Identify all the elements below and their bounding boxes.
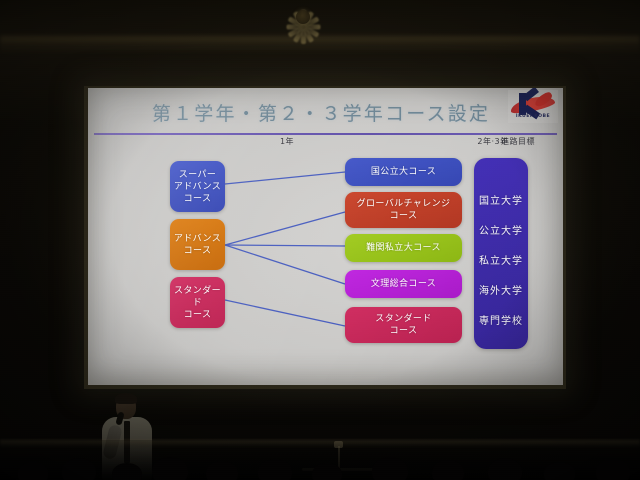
- course-box-liberal-science[interactable]: 文理総合コース: [345, 270, 462, 298]
- goal-panel[interactable]: 国立大学 公立大学 私立大学 海外大学 専門学校: [474, 158, 528, 349]
- title-divider: [94, 133, 557, 135]
- course-box-advance[interactable]: アドバンス コース: [170, 219, 225, 270]
- goal-item: 専門学校: [474, 312, 528, 327]
- course-label-line: スーパー: [174, 169, 221, 181]
- course-box-standard-year23[interactable]: スタンダード コース: [345, 307, 462, 343]
- course-box-standard-year1[interactable]: スタンダード コース: [170, 277, 225, 328]
- course-box-super-advance[interactable]: スーパー アドバンス コース: [170, 161, 225, 212]
- course-box-top-private-univ[interactable]: 難関私立大コース: [345, 234, 462, 262]
- course-label-line: グローバルチャレンジ: [357, 198, 451, 210]
- course-label-line: コース: [375, 325, 431, 337]
- goal-item: 国立大学: [474, 192, 528, 207]
- course-box-global-challenge[interactable]: グローバルチャレンジ コース: [345, 192, 462, 228]
- course-label-line: アドバンス: [174, 233, 221, 245]
- course-label-line: スタンダード: [375, 313, 431, 325]
- connector-line: [225, 245, 345, 246]
- column-header-year1: 1年: [260, 136, 314, 147]
- projection-screen: 第１学年・第２・３学年コース設定 IKUEI KOBE 1年 2年·3年 進路目…: [88, 88, 563, 385]
- course-label-line: 難関私立大コース: [366, 242, 441, 254]
- course-label-line: コース: [170, 309, 225, 321]
- goal-item: 私立大学: [474, 252, 528, 267]
- course-label-line: コース: [174, 193, 221, 205]
- rosette-icon: [283, 1, 323, 35]
- course-label-line: 文理総合コース: [371, 278, 436, 290]
- connector-line: [225, 172, 345, 184]
- connector-line: [225, 212, 345, 245]
- photo-scene: 第１学年・第２・３学年コース設定 IKUEI KOBE 1年 2年·3年 進路目…: [0, 0, 640, 480]
- course-label-line: 国公立大コース: [371, 166, 436, 178]
- goal-item: 公立大学: [474, 222, 528, 237]
- ceiling-band-secondary: [0, 47, 640, 54]
- page-title: 第１学年・第２・３学年コース設定: [146, 99, 496, 126]
- logo-text: IKUEI KOBE: [508, 114, 558, 119]
- course-box-national-public-univ[interactable]: 国公立大コース: [345, 158, 462, 186]
- course-label-line: スタンダード: [170, 285, 225, 309]
- audience-silhouettes: [0, 440, 640, 480]
- course-label-line: アドバンス: [174, 181, 221, 193]
- connector-line: [225, 300, 345, 326]
- course-label-line: コース: [357, 210, 451, 222]
- course-label-line: コース: [174, 245, 221, 257]
- column-header-goal: 進路目標: [474, 136, 562, 147]
- goal-item: 海外大学: [474, 282, 528, 297]
- slide: 第１学年・第２・３学年コース設定 IKUEI KOBE 1年 2年·3年 進路目…: [88, 88, 563, 385]
- ikuei-kobe-logo: IKUEI KOBE: [508, 90, 558, 130]
- connector-line: [225, 245, 345, 284]
- slide-title-bar: 第１学年・第２・３学年コース設定: [88, 93, 563, 131]
